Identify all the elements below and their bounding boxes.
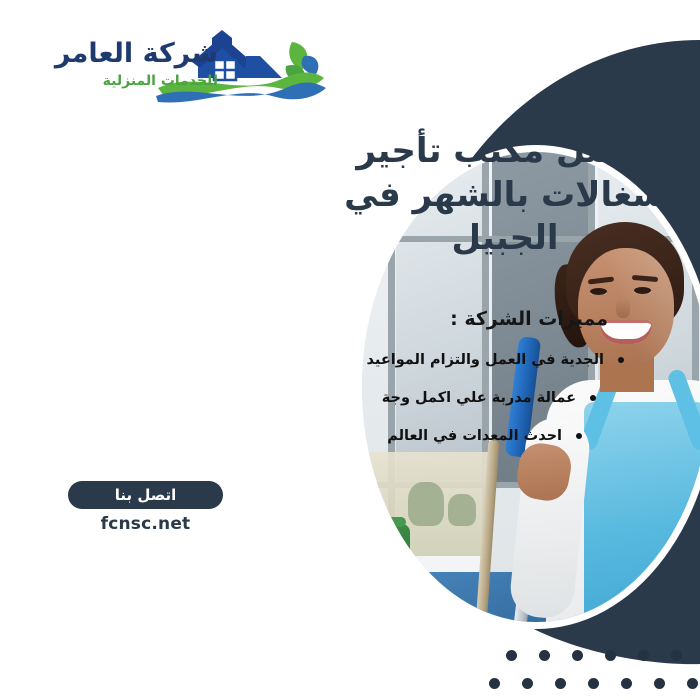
list-item: عمالة مدربة علي اكمل وجة (362, 390, 596, 406)
tree-shape (448, 494, 476, 526)
eye (590, 288, 607, 295)
decorative-dot (605, 650, 616, 661)
decorative-dot (506, 650, 517, 661)
bullet-icon (576, 433, 582, 439)
tree-shape (408, 482, 444, 526)
nose (616, 298, 630, 318)
list-item: الجدية في العمل والتزام المواعيد (362, 352, 624, 368)
bullet-icon (618, 357, 624, 363)
eye (634, 287, 651, 294)
poster-canvas: شركة العامر للخدمات المنزلية أفضل مكتب ت… (0, 0, 700, 700)
decorative-dot (555, 678, 566, 689)
decorative-dot (638, 650, 649, 661)
decorative-dot (522, 678, 533, 689)
features-list: الجدية في العمل والتزام المواعيد عمالة م… (362, 352, 624, 466)
decorative-dot (572, 650, 583, 661)
dot-grid-decoration (500, 644, 700, 696)
decorative-dot (588, 678, 599, 689)
feature-text: الجدية في العمل والتزام المواعيد (367, 352, 604, 368)
logo-tagline: للخدمات المنزلية (55, 74, 218, 88)
feature-text: عمالة مدربة علي اكمل وجة (382, 390, 576, 406)
decorative-dot (539, 650, 550, 661)
decorative-dot (621, 678, 632, 689)
logo-company-name: شركة العامر (55, 40, 218, 67)
contact-us-button[interactable]: اتصل بنا (68, 481, 223, 509)
decorative-dot (489, 678, 500, 689)
list-item: احدث المعدات في العالم (362, 428, 582, 444)
company-logo[interactable]: شركة العامر للخدمات المنزلية (46, 26, 336, 108)
bullet-icon (590, 395, 596, 401)
features-heading: مميزات الشركة : (450, 308, 608, 330)
logo-text-block: شركة العامر للخدمات المنزلية (55, 40, 218, 88)
decorative-dot (654, 678, 665, 689)
decorative-dot (671, 650, 682, 661)
page-title: أفضل مكتب تأجير شغالات بالشهر في الجبيل (340, 130, 670, 261)
feature-text: احدث المعدات في العالم (387, 428, 562, 444)
website-url[interactable]: fcnsc.net (68, 514, 223, 534)
decorative-dot (687, 678, 698, 689)
